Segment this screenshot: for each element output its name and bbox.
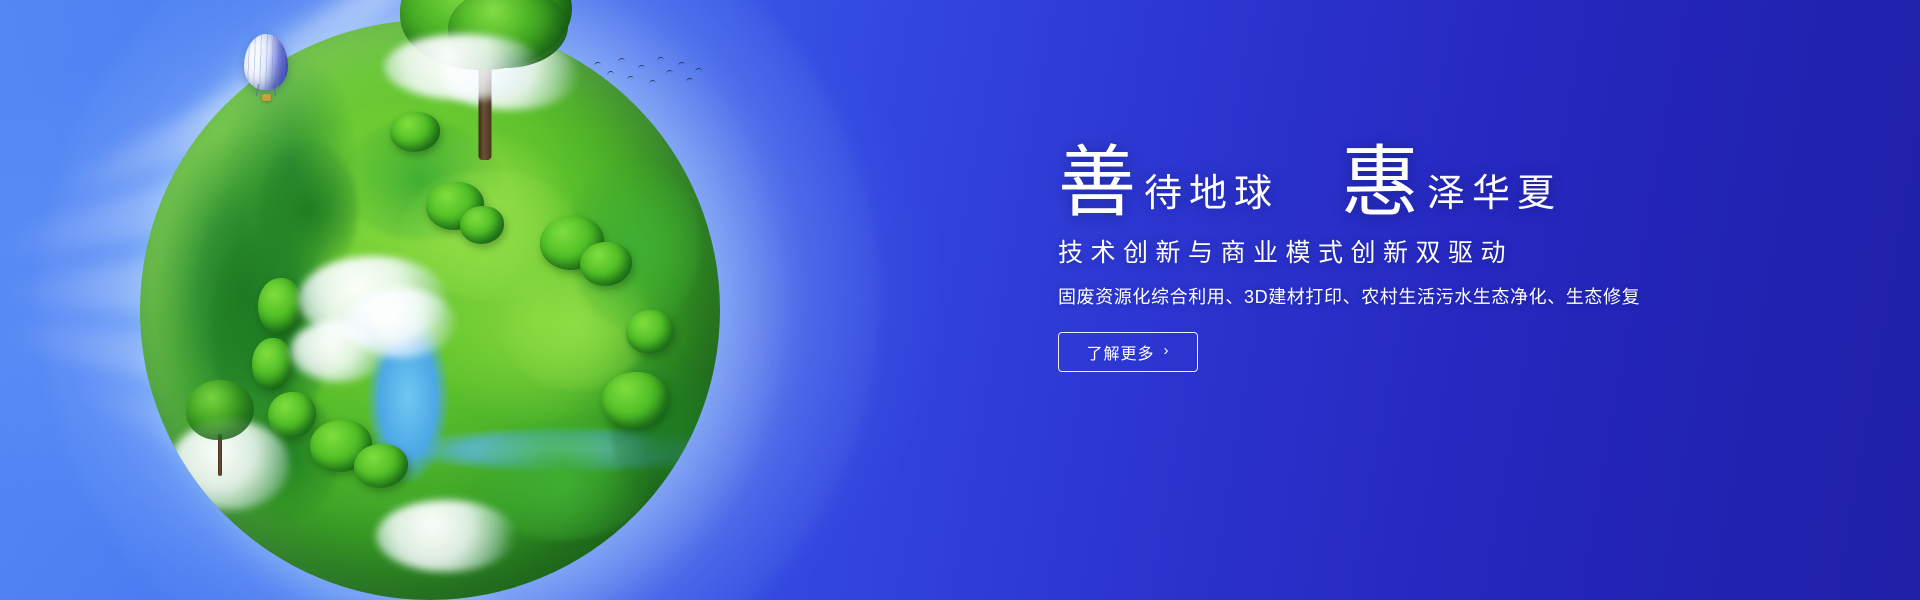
hero-subtitle: 技术创新与商业模式创新双驱动 [1058,238,1738,269]
bird-flock-icon [594,56,704,90]
globe-illustration [140,20,720,600]
headline-accent-char-2: 惠 [1341,148,1419,220]
headline-rest-2: 泽华夏 [1427,174,1562,220]
cloud-icon [384,34,544,100]
page-title: 善 待地球 惠 泽华夏 [1058,132,1738,220]
chevron-right-icon: › [1164,343,1170,358]
learn-more-label: 了解更多 [1086,340,1154,364]
hero-description: 固废资源化综合利用、3D建材打印、农村生活污水生态净化、生态修复 [1058,286,1738,309]
tree-icon [390,0,580,160]
hot-air-balloon-icon [244,34,292,106]
headline-group-2: 惠 泽华夏 [1341,148,1562,220]
hero-banner: 善 待地球 惠 泽华夏 技术创新与商业模式创新双驱动 固废资源化综合利用、3D建… [0,0,1920,600]
headline-accent-char-1: 善 [1058,148,1136,220]
hero-copy: 善 待地球 惠 泽华夏 技术创新与商业模式创新双驱动 固废资源化综合利用、3D建… [1058,132,1738,372]
headline-rest-1: 待地球 [1144,174,1279,220]
learn-more-button[interactable]: 了解更多 › [1058,332,1198,372]
headline-group-1: 善 待地球 [1058,148,1279,220]
